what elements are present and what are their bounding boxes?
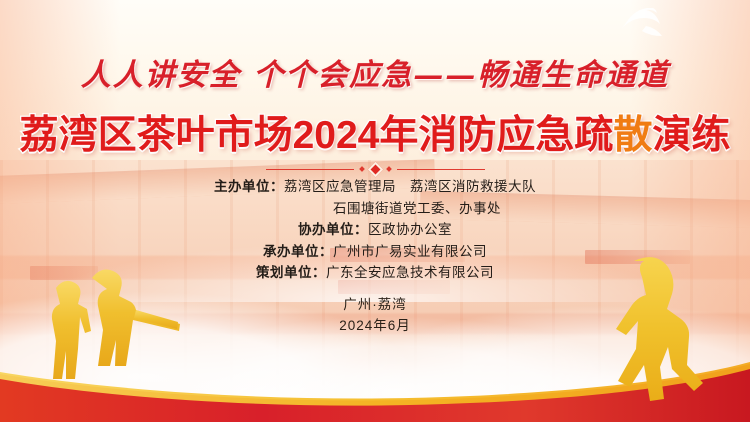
organizer-value: 石围塘街道党工委、办事处 <box>333 201 501 216</box>
main-title-segment-0: 荔湾区茶叶市场2024年消防应 <box>20 114 536 157</box>
poster-canvas: 人人讲安全 个个会应急——畅通生命通道 荔湾区茶叶市场2024年消防应急疏散演练… <box>0 0 750 422</box>
place-text: 广州·荔湾 <box>0 294 750 315</box>
organizer-row: 主办单位：荔湾区应急管理局 荔湾区消防救援大队 <box>0 176 750 198</box>
diamond-ornament-icon <box>367 161 383 177</box>
poster-slogan: 人人讲安全 个个会应急——畅通生命通道 <box>0 50 750 94</box>
main-title-segment-2: 散 <box>613 114 652 157</box>
organizer-row: 协办单位：区政协办公室 <box>0 219 750 241</box>
divider-rule-right <box>397 169 485 170</box>
divider-dot <box>386 166 392 172</box>
organizer-label: 协办单位： <box>298 222 368 237</box>
organizer-row: 石围塘街道党工委、办事处 <box>0 198 750 220</box>
poster-content: 人人讲安全 个个会应急——畅通生命通道 荔湾区茶叶市场2024年消防应急疏散演练… <box>0 0 750 422</box>
organizer-label: 主办单位： <box>214 179 284 194</box>
main-title-segment-1: 急疏 <box>535 114 613 157</box>
organizer-row: 承办单位：广州市广易实业有限公司 <box>0 241 750 263</box>
organizer-value: 区政协办公室 <box>368 222 452 237</box>
organizer-value: 广东全安应急技术有限公司 <box>326 265 494 280</box>
organizer-row: 策划单位：广东全安应急技术有限公司 <box>0 262 750 284</box>
organizer-value: 广州市广易实业有限公司 <box>333 244 487 259</box>
date-text: 2024年6月 <box>0 315 750 336</box>
divider-dot <box>359 166 365 172</box>
organizer-label: 策划单位： <box>256 265 326 280</box>
organizer-label: 承办单位： <box>263 244 333 259</box>
divider-rule-left <box>266 169 354 170</box>
place-date-block: 广州·荔湾 2024年6月 <box>0 294 750 336</box>
main-title-segment-3: 演练 <box>652 114 730 157</box>
poster-main-title: 荔湾区茶叶市场2024年消防应急疏散演练 <box>0 104 750 160</box>
organizer-block: 主办单位：荔湾区应急管理局 荔湾区消防救援大队石围塘街道党工委、办事处协办单位：… <box>0 176 750 284</box>
organizer-value: 荔湾区应急管理局 荔湾区消防救援大队 <box>284 179 536 194</box>
